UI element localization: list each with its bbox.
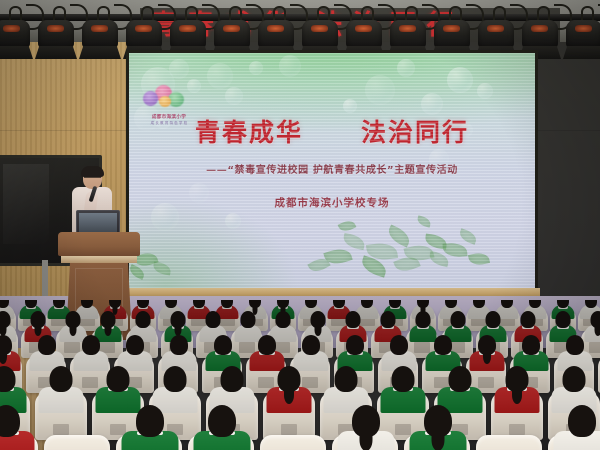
stage-light-icon — [36, 16, 76, 62]
student-head — [208, 405, 236, 437]
student-head — [345, 311, 360, 328]
student-head — [0, 366, 16, 392]
student — [335, 405, 396, 450]
student — [72, 335, 109, 369]
audience-area — [0, 300, 600, 450]
student — [292, 335, 329, 369]
leaf-decoration — [338, 218, 357, 234]
slide-title-right: 法治同行 — [361, 113, 469, 149]
student — [160, 335, 197, 369]
student-ponytail — [284, 386, 294, 404]
student — [336, 335, 373, 369]
student-head — [164, 366, 187, 392]
student-head — [107, 366, 130, 392]
student-head — [302, 335, 320, 355]
bubble-decoration — [249, 61, 263, 75]
student — [322, 366, 370, 410]
student — [208, 366, 256, 410]
bubble-decoration — [365, 75, 395, 105]
student-head — [38, 335, 56, 355]
student-head — [568, 405, 596, 437]
podium-top — [58, 232, 140, 256]
student-head — [258, 335, 276, 355]
auditorium-seat — [476, 435, 542, 450]
student — [116, 335, 153, 369]
student-head — [214, 335, 232, 355]
student — [28, 335, 65, 369]
student-head — [566, 335, 584, 355]
student — [0, 366, 28, 410]
student-head — [136, 405, 164, 437]
student — [493, 366, 541, 410]
student-head — [126, 335, 144, 355]
projection-screen: 成都市海滨小学 成 长 教 育 特 色 学 校 青春成华 法治同行 ——“禁毒宣… — [129, 53, 535, 293]
stage-light-icon — [80, 16, 120, 62]
student-head — [522, 335, 540, 355]
podium-band — [61, 256, 137, 263]
student-head — [50, 366, 73, 392]
auditorium-seat — [260, 435, 326, 450]
slide-title-left: 青春成华 — [195, 113, 303, 149]
student-head — [555, 311, 570, 328]
student — [512, 335, 549, 369]
student-head — [449, 366, 472, 392]
student — [0, 335, 21, 369]
student-ponytail — [483, 350, 491, 364]
monitor-glare — [3, 164, 49, 244]
projection-screen-frame: 成都市海滨小学 成 长 教 育 特 色 学 校 青春成华 法治同行 ——“禁毒宣… — [126, 50, 538, 296]
student-head — [82, 335, 100, 355]
leaf-decoration — [468, 251, 490, 267]
leaf-decoration — [416, 215, 432, 228]
student-head — [221, 366, 244, 392]
bubble-decoration — [279, 55, 301, 77]
student-head — [450, 311, 465, 328]
student — [37, 366, 85, 410]
student-head — [205, 311, 220, 328]
student — [380, 335, 417, 369]
bubble-decoration — [169, 59, 189, 79]
student — [119, 405, 180, 450]
student-head — [0, 405, 20, 437]
bubble-decoration — [447, 67, 473, 93]
student — [407, 405, 468, 450]
student — [0, 405, 36, 450]
student-head — [170, 335, 188, 355]
student — [94, 366, 142, 410]
student-head — [135, 311, 150, 328]
student — [204, 335, 241, 369]
student-head — [485, 311, 500, 328]
student-head — [392, 366, 415, 392]
student-ponytail — [359, 429, 372, 450]
student-head — [520, 311, 535, 328]
student-head — [563, 366, 586, 392]
student-head — [346, 335, 364, 355]
stage-light-icon — [564, 16, 600, 62]
student-head — [434, 335, 452, 355]
student-head — [240, 311, 255, 328]
student-head — [415, 311, 430, 328]
student — [191, 405, 252, 450]
stage-light-icon — [0, 16, 32, 62]
student — [424, 335, 461, 369]
leaf-decoration — [443, 242, 468, 258]
student — [151, 366, 199, 410]
bubble-decoration — [207, 63, 233, 89]
student — [556, 335, 593, 369]
bubble-decoration — [421, 93, 443, 115]
slide-venue: 成都市海滨小学校专场 — [129, 195, 535, 210]
leaf-decoration — [458, 228, 479, 244]
student-ponytail — [512, 386, 522, 404]
auditorium-seat — [44, 435, 110, 450]
slide-subtitle: ——“禁毒宣传进校园 护航青春共成长”主题宣传活动 — [129, 161, 535, 176]
student-head — [335, 366, 358, 392]
bubble-decoration — [225, 87, 243, 105]
student — [436, 366, 484, 410]
student-head — [275, 311, 290, 328]
presenter-glasses — [84, 177, 101, 183]
student — [550, 366, 598, 410]
student-ponytail — [431, 429, 444, 450]
auditorium-photo: 青春成华 法治同行 成都市海滨小学 成 长 教 育 特 色 学 校 — [0, 0, 600, 450]
student — [379, 366, 427, 410]
bubble-decoration — [397, 59, 415, 77]
student-head — [390, 335, 408, 355]
bubble-decoration — [343, 99, 357, 113]
student — [468, 335, 505, 369]
leaf-decoration — [342, 233, 366, 250]
student — [248, 335, 285, 369]
slide-title: 青春成华 法治同行 — [129, 113, 535, 149]
student — [265, 366, 313, 410]
student — [551, 405, 600, 450]
presenter-hair — [81, 166, 104, 177]
bubble-decoration — [477, 83, 493, 99]
student-head — [380, 311, 395, 328]
